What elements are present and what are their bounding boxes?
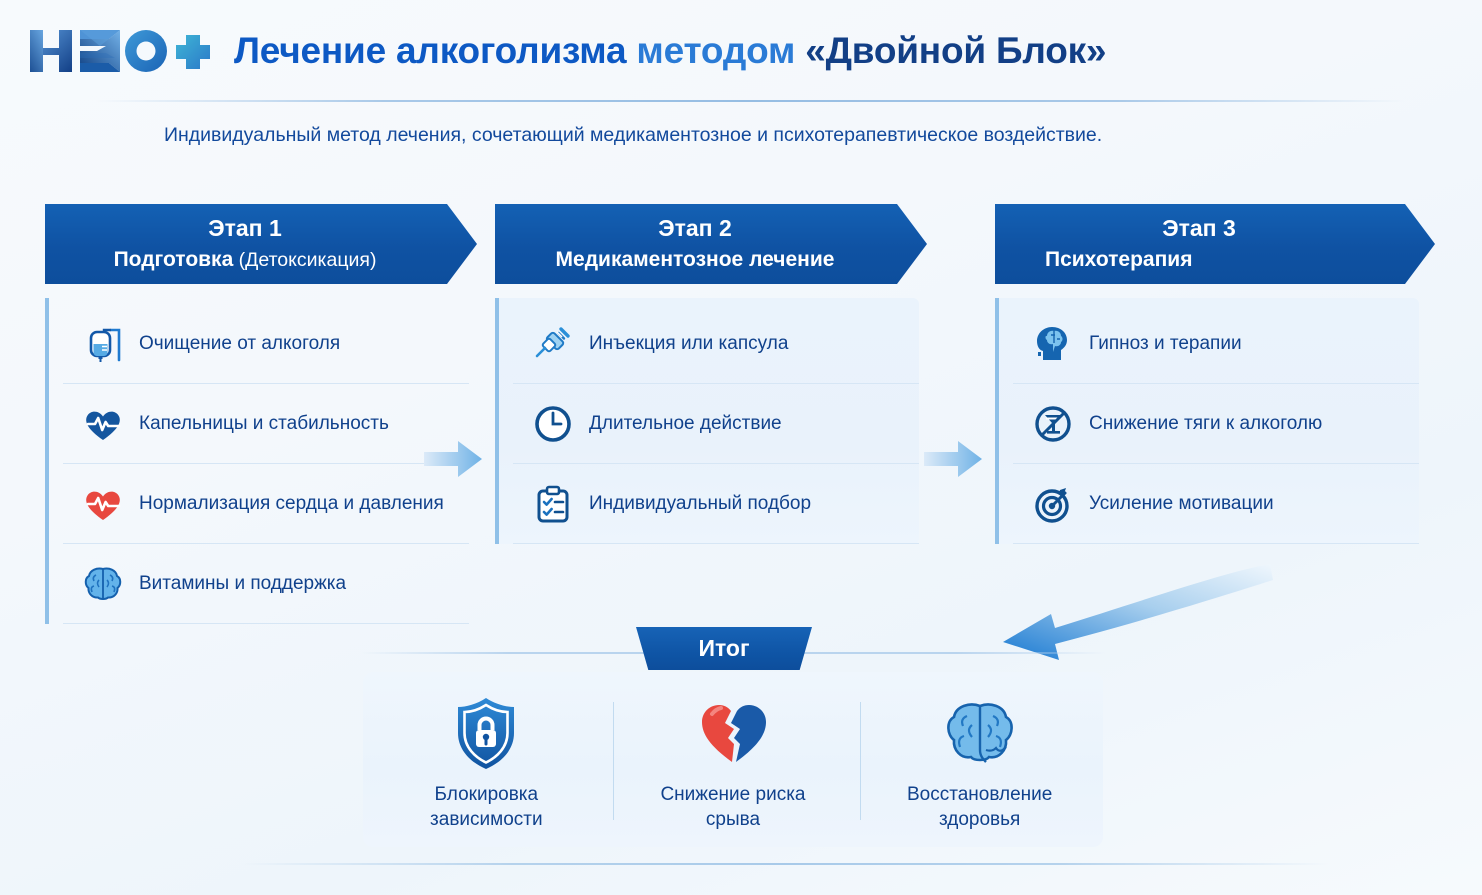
stage-2-header: Этап 2 Медикаментозное лечение xyxy=(495,204,927,284)
stage-1-header: Этап 1 Подготовка (Детоксикация) xyxy=(45,204,477,284)
list-item-label: Витамины и поддержка xyxy=(139,573,346,595)
brain-icon xyxy=(81,562,125,606)
syringe-icon xyxy=(531,322,575,366)
stage-2-number: Этап 2 xyxy=(509,213,881,243)
heart-pulse-red-icon xyxy=(81,482,125,526)
list-item[interactable]: Снижение тяги к алкоголю xyxy=(1013,384,1419,464)
title-part-method: методом xyxy=(626,30,805,71)
title-part-name: «Двойной Блок» xyxy=(805,30,1106,71)
result-item-label: Восстановление здоровья xyxy=(907,782,1052,832)
list-item-label: Длительное действие xyxy=(589,413,782,435)
result-item-label: Снижение риска срыва xyxy=(660,782,805,832)
list-item-label: Снижение тяги к алкоголю xyxy=(1089,413,1322,435)
head-brain-icon xyxy=(1031,322,1075,366)
stages-section: Этап 1 Подготовка (Детоксикация) Очищени… xyxy=(0,204,1482,574)
page-title: Лечение алкоголизма методом «Двойной Бло… xyxy=(234,30,1106,72)
stage-1-subtitle-light: (Детоксикация) xyxy=(233,249,376,271)
stage-2-subtitle-bold: Медикаментозное лечение xyxy=(556,248,835,271)
stage-1-subtitle-bold: Подготовка xyxy=(114,248,234,271)
no-alcohol-icon xyxy=(1031,402,1075,446)
title-part-treatment: Лечение алкоголизма xyxy=(234,30,626,71)
result-panel: Блокировка зависимости Снижение риска ср… xyxy=(363,672,1103,847)
list-item[interactable]: Гипноз и терапии xyxy=(1013,304,1419,384)
list-item[interactable]: Индивидуальный подбор xyxy=(513,464,919,544)
stage-1-subtitle: Подготовка (Детоксикация) xyxy=(59,245,431,275)
stage-3-header: Этап 3 Психотерапия xyxy=(995,204,1435,284)
broken-heart-icon xyxy=(694,694,772,772)
result-item-health[interactable]: Восстановление здоровья xyxy=(872,694,1088,832)
list-item[interactable]: Капельницы и стабильность xyxy=(63,384,469,464)
list-item[interactable]: Очищение от алкоголя xyxy=(63,304,469,384)
list-item[interactable]: Длительное действие xyxy=(513,384,919,464)
stage-1-items: Очищение от алкоголя Капельницы и стабил… xyxy=(45,298,469,624)
list-item-label: Очищение от алкоголя xyxy=(139,333,340,355)
stage-3: Этап 3 Психотерапия Гипноз и терапии xyxy=(995,204,1427,544)
stage-2-items: Инъекция или капсула Длительное действие xyxy=(495,298,919,544)
stage-3-number: Этап 3 xyxy=(1009,213,1389,243)
result-item-risk[interactable]: Снижение риска срыва xyxy=(625,694,841,832)
list-item-label: Гипноз и терапии xyxy=(1089,333,1242,355)
stage-3-items: Гипноз и терапии Снижение тяги к алкогол… xyxy=(995,298,1419,544)
list-item-label: Усиление мотивации xyxy=(1089,493,1274,515)
list-item-label: Капельницы и стабильность xyxy=(139,413,389,435)
iv-drip-icon xyxy=(81,322,125,366)
shield-lock-icon xyxy=(447,694,525,772)
stage-2-subtitle: Медикаментозное лечение xyxy=(509,245,881,275)
result-item-block[interactable]: Блокировка зависимости xyxy=(378,694,594,832)
page-header: Лечение алкоголизма методом «Двойной Бло… xyxy=(28,20,1106,82)
brain-icon xyxy=(941,694,1019,772)
list-item[interactable]: Нормализация сердца и давления xyxy=(63,464,469,544)
stage-2: Этап 2 Медикаментозное лечение Инъекция … xyxy=(495,204,927,544)
result-banner: Итог xyxy=(636,627,812,670)
stage-1-number: Этап 1 xyxy=(59,213,431,243)
header-divider xyxy=(95,100,1405,102)
arrow-right-icon xyxy=(922,438,984,480)
arrow-right-icon xyxy=(422,438,484,480)
neo-plus-logo xyxy=(28,20,212,82)
result-item-label: Блокировка зависимости xyxy=(430,782,543,832)
curved-arrow-left-icon xyxy=(985,552,1275,664)
heart-pulse-blue-icon xyxy=(81,402,125,446)
stage-3-subtitle: Психотерапия xyxy=(1009,245,1389,275)
list-item-label: Инъекция или капсула xyxy=(589,333,788,355)
list-item-label: Индивидуальный подбор xyxy=(589,493,811,515)
checklist-clipboard-icon xyxy=(531,482,575,526)
stage-3-subtitle-bold: Психотерапия xyxy=(1045,248,1192,271)
list-item-label: Нормализация сердца и давления xyxy=(139,493,444,515)
target-arrow-icon xyxy=(1031,482,1075,526)
stage-1: Этап 1 Подготовка (Детоксикация) Очищени… xyxy=(45,204,477,624)
footer-divider xyxy=(240,863,1330,865)
page-subtitle: Индивидуальный метод лечения, сочетающий… xyxy=(164,124,1102,147)
clock-icon xyxy=(531,402,575,446)
list-item[interactable]: Витамины и поддержка xyxy=(63,544,469,624)
list-item[interactable]: Усиление мотивации xyxy=(1013,464,1419,544)
list-item[interactable]: Инъекция или капсула xyxy=(513,304,919,384)
